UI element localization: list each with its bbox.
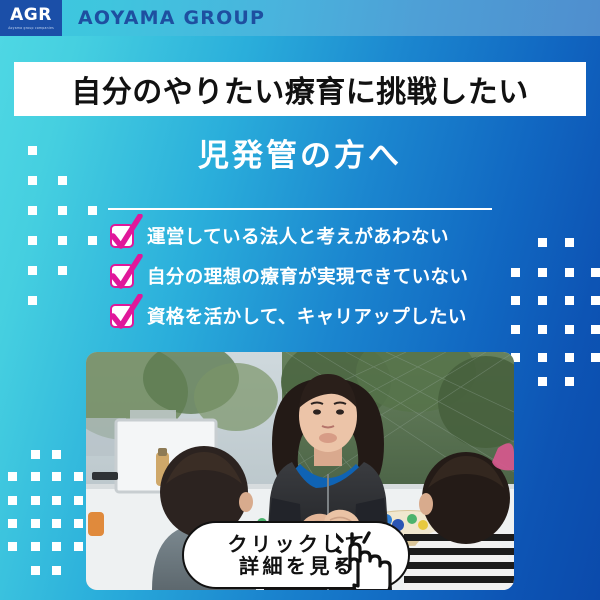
checklist-item: 資格を活かして、キャリアップしたい	[110, 296, 510, 336]
logo-subtext: Aoyama group companies	[8, 26, 54, 30]
brand-header: AGR Aoyama group companies AOYAMA GROUP	[0, 0, 600, 36]
agr-logo[interactable]: AGR Aoyama group companies	[0, 0, 62, 36]
benefits-checklist: 運営している法人と考えがあわない 自分の理想の療育が実現できていない 資格を活か…	[110, 216, 510, 336]
logo-text: AGR	[10, 7, 52, 24]
brand-name: AOYAMA GROUP	[78, 7, 265, 29]
checkbox-checked-icon	[110, 224, 134, 248]
checklist-item: 自分の理想の療育が実現できていない	[110, 256, 510, 296]
checkbox-checked-icon	[110, 304, 134, 328]
cta-button[interactable]: クリックして 詳細を見る	[182, 521, 410, 589]
checklist-item-label: 運営している法人と考えがあわない	[147, 223, 449, 249]
checklist-item-label: 資格を活かして、キャリアップしたい	[147, 303, 467, 329]
checklist-item: 運営している法人と考えがあわない	[110, 216, 510, 256]
subtitle-text: 児発管の方へ	[0, 130, 600, 175]
checklist-item-label: 自分の理想の療育が実現できていない	[147, 263, 468, 289]
headline-banner: 自分のやりたい療育に挑戦したい	[14, 62, 586, 116]
checkbox-checked-icon	[110, 264, 134, 288]
pointing-hand-click-icon	[336, 529, 408, 593]
advertisement-banner: AGR Aoyama group companies AOYAMA GROUP …	[0, 0, 600, 600]
headline-text: 自分のやりたい療育に挑戦したい	[71, 67, 529, 111]
divider-line	[108, 208, 492, 210]
